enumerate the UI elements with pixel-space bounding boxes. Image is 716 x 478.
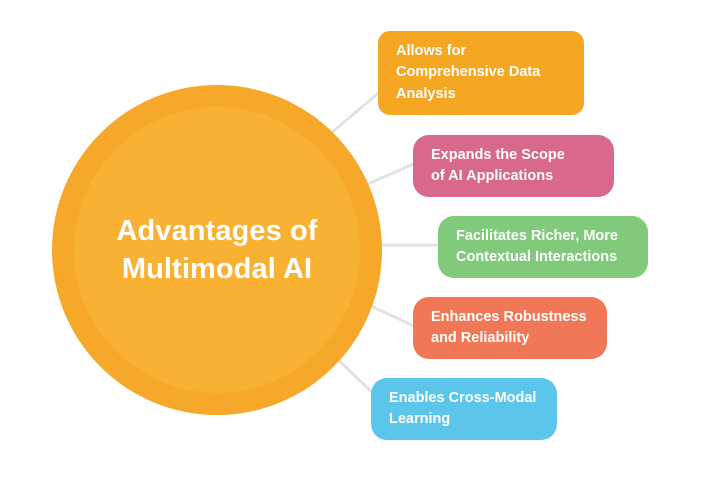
branch-node-enables-cross-modal-learning[interactable]: Enables Cross-Modal Learning [371, 378, 557, 440]
mindmap-canvas: Advantages of Multimodal AI Allows for C… [0, 0, 716, 478]
branch-node-label: Expands the Scope of AI Applications [431, 145, 565, 187]
branch-node-allows-for-comprehensive-data-analysis[interactable]: Allows for Comprehensive Data Analysis [378, 31, 584, 115]
branch-node-label: Allows for Comprehensive Data Analysis [396, 41, 540, 104]
branch-node-label: Enhances Robustness and Reliability [431, 307, 587, 349]
branch-node-expands-the-scope-of-ai-applications[interactable]: Expands the Scope of AI Applications [413, 135, 614, 197]
branch-node-facilitates-richer-more-contextual-interactions[interactable]: Facilitates Richer, More Contextual Inte… [438, 216, 648, 278]
center-node[interactable]: Advantages of Multimodal AI [52, 85, 382, 415]
branch-node-label: Facilitates Richer, More Contextual Inte… [456, 226, 618, 268]
branch-node-label: Enables Cross-Modal Learning [389, 388, 536, 430]
branch-node-enhances-robustness-and-reliability[interactable]: Enhances Robustness and Reliability [413, 297, 607, 359]
center-node-label: Advantages of Multimodal AI [52, 85, 382, 415]
